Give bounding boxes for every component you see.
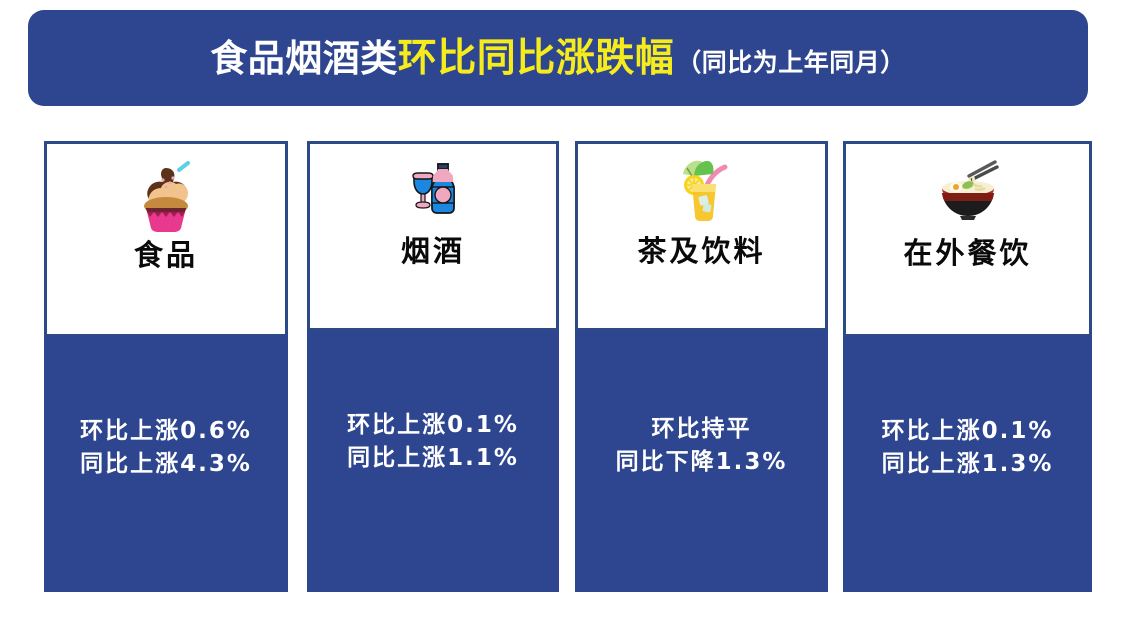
category-stats-panel: 环比持平 同比下降1.3%	[575, 331, 828, 592]
category-column-tobacco-alcohol: 烟酒 环比上涨0.1% 同比上涨1.1%	[307, 141, 559, 592]
category-label: 茶及饮料	[637, 236, 765, 268]
year-on-year-value: 同比上涨4.3%	[80, 448, 252, 481]
tropical-drink-icon	[663, 152, 741, 230]
category-label: 食品	[134, 240, 198, 272]
month-on-month-value: 环比上涨0.1%	[347, 409, 519, 442]
month-on-month-value: 环比持平	[616, 413, 788, 446]
bottle-and-glass-icon	[394, 152, 472, 230]
category-column-tea-beverage: 茶及饮料 环比持平 同比下降1.3%	[575, 141, 828, 592]
year-on-year-value: 同比上涨1.1%	[347, 442, 519, 475]
category-card: 茶及饮料	[575, 141, 828, 331]
year-on-year-value: 同比下降1.3%	[616, 446, 788, 479]
category-card: 在外餐饮	[843, 141, 1092, 337]
category-stats-panel: 环比上涨0.6% 同比上涨4.3%	[44, 337, 288, 592]
year-on-year-value: 同比上涨1.3%	[882, 448, 1054, 481]
noodle-bowl-icon	[929, 154, 1007, 232]
stats-lines: 环比上涨0.1% 同比上涨1.1%	[347, 409, 519, 474]
category-column-dining-out: 在外餐饮 环比上涨0.1% 同比上涨1.3%	[843, 141, 1092, 592]
category-card: 食品	[44, 141, 288, 337]
category-column-food: 食品 环比上涨0.6% 同比上涨4.3%	[44, 141, 288, 592]
category-stats-panel: 环比上涨0.1% 同比上涨1.1%	[307, 331, 559, 592]
infographic-page: 食品烟酒类环比同比涨跌幅（同比为上年同月）	[0, 0, 1123, 619]
category-label: 烟酒	[401, 236, 465, 268]
category-label: 在外餐饮	[903, 238, 1031, 270]
month-on-month-value: 环比上涨0.1%	[882, 415, 1054, 448]
category-card: 烟酒	[307, 141, 559, 331]
stats-lines: 环比上涨0.1% 同比上涨1.3%	[882, 415, 1054, 480]
month-on-month-value: 环比上涨0.6%	[80, 415, 252, 448]
category-columns: 食品 环比上涨0.6% 同比上涨4.3%	[0, 0, 1123, 619]
stats-lines: 环比上涨0.6% 同比上涨4.3%	[80, 415, 252, 480]
stats-lines: 环比持平 同比下降1.3%	[616, 413, 788, 478]
cupcake-icon	[127, 156, 205, 234]
category-stats-panel: 环比上涨0.1% 同比上涨1.3%	[843, 337, 1092, 592]
